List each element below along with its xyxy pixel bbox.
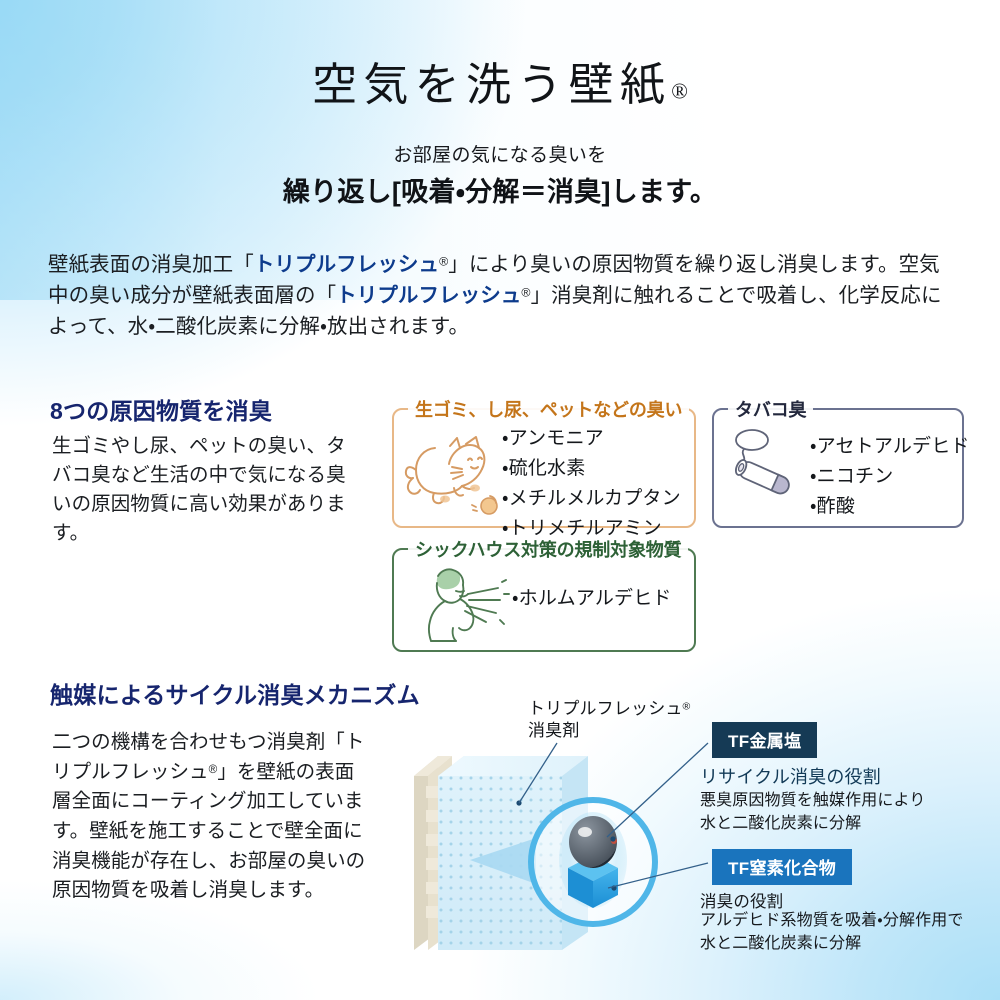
- callout-registered-icon: ®: [683, 700, 691, 712]
- registered-trademark-icon: ®: [671, 78, 688, 103]
- callout-line-2: 消臭剤: [528, 720, 690, 742]
- page-title: 空気を洗う壁紙®: [0, 48, 1000, 113]
- list-item: ・メチルメルカプタン: [502, 484, 681, 514]
- brand-name: トリプルフレッシュ: [254, 253, 439, 276]
- odor-box-sickhouse: シックハウス対策の規制対象物質 ・ホルムアルデヒド: [392, 548, 696, 652]
- list-item: 悪臭原因物質を触媒作用により: [700, 790, 925, 813]
- role-description-tf-metal-salt: 悪臭原因物質を触媒作用により水と二酸化炭素に分解: [700, 790, 925, 835]
- role-description-tf-nitrogen-compound: アルデヒド系物質を吸着・分解作用で水と二酸化炭素に分解: [700, 910, 963, 955]
- section-heading-odor: 8つの原因物質を消臭: [50, 392, 272, 426]
- lead-paragraph: 壁紙表面の消臭加工「トリプルフレッシュ®」により臭いの原因物質を繰り返し消臭しま…: [48, 249, 953, 342]
- list-item: ・硫化水素: [502, 454, 681, 484]
- brand-name: トリプルフレッシュ: [336, 284, 521, 307]
- role-title-tf-metal-salt: リサイクル消臭の役割: [700, 763, 881, 789]
- diagram-callout-triplefresh: トリプルフレッシュ® 消臭剤: [528, 698, 690, 742]
- odor-box-kitchen: 生ゴミ、し尿、ペットなどの臭い: [392, 408, 696, 528]
- odor-box-tobacco-title: タバコ臭: [728, 396, 813, 422]
- cigarette-icon: [722, 426, 810, 506]
- subtitle-line-1: お部屋の気になる臭いを: [0, 140, 1000, 167]
- odor-box-tobacco: タバコ臭 ・アセトアルデヒド・ニコチン・酢酸: [712, 408, 964, 528]
- page-title-text: 空気を洗う壁紙: [312, 60, 671, 110]
- odor-box-tobacco-list: ・アセトアルデヒド・ニコチン・酢酸: [810, 432, 970, 522]
- lead-text: 壁紙表面の消臭加工「: [48, 253, 254, 276]
- odor-box-sickhouse-list: ・ホルムアルデヒド: [512, 584, 672, 614]
- list-item: ・アンモニア: [502, 424, 681, 454]
- subtitle-line-2: 繰り返し[吸着・分解＝消臭]します。: [0, 170, 1000, 209]
- list-item: ・ニコチン: [810, 462, 970, 492]
- cat-icon: [402, 424, 502, 516]
- section-body-odor: 生ゴミやし尿、ペットの臭い、タバコ臭など生活の中で気になる臭いの原因物質に高い効…: [52, 432, 352, 547]
- infographic-root: 空気を洗う壁紙® お部屋の気になる臭いを 繰り返し[吸着・分解＝消臭]します。 …: [0, 0, 1000, 1000]
- list-item: ・アセトアルデヒド: [810, 432, 970, 462]
- brand-name: ®: [439, 254, 448, 268]
- brand-name: ®: [521, 285, 530, 299]
- section-heading-mechanism: 触媒によるサイクル消臭メカニズム: [50, 676, 420, 710]
- list-item: ・ホルムアルデヒド: [512, 584, 672, 614]
- list-item: アルデヒド系物質を吸着・分解作用で: [700, 910, 963, 933]
- odor-box-kitchen-list: ・アンモニア・硫化水素・メチルメルカプタン・トリメチルアミン: [502, 424, 681, 544]
- badge-tf-metal-salt: TF金属塩: [712, 722, 817, 758]
- list-item: 水と二酸化炭素に分解: [700, 813, 925, 836]
- badge-tf-nitrogen-compound: TF窒素化合物: [712, 849, 852, 885]
- list-item: ・酢酸: [810, 492, 970, 522]
- odor-box-kitchen-title: 生ゴミ、し尿、ペットなどの臭い: [408, 396, 689, 422]
- callout-line-1: トリプルフレッシュ: [528, 699, 683, 718]
- coughing-person-icon: [416, 558, 512, 644]
- section-body-mechanism: 二つの機構を合わせもつ消臭剤「トリプルフレッシュ®」を壁紙の表面層全面にコーティ…: [52, 728, 372, 906]
- role-title-tf-nitrogen-compound: 消臭の役割: [700, 888, 783, 912]
- list-item: 水と二酸化炭素に分解: [700, 933, 963, 956]
